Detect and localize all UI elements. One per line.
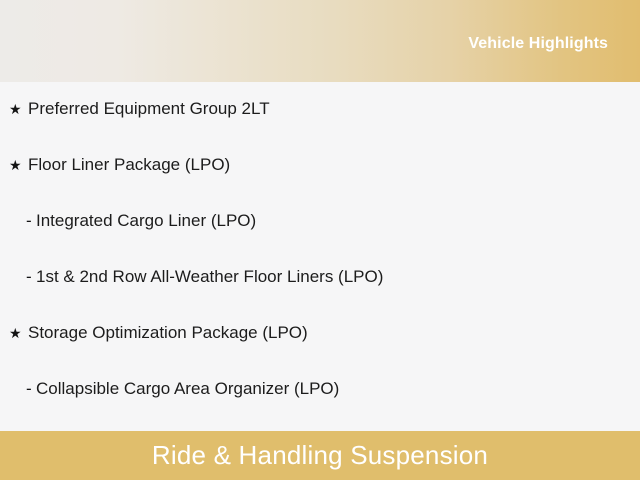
header-title: Vehicle Highlights (468, 35, 640, 53)
list-item-label: Storage Optimization Package (LPO) (28, 322, 308, 344)
dash-icon: - (26, 266, 36, 288)
list-item: ★ Storage Optimization Package (LPO) (0, 322, 640, 378)
list-item-label: Integrated Cargo Liner (LPO) (36, 210, 256, 232)
list-item: - 1st & 2nd Row All-Weather Floor Liners… (0, 266, 640, 322)
star-icon: ★ (9, 98, 28, 120)
list-item: ★ Preferred Equipment Group 2LT (0, 98, 640, 154)
slide-footer: Ride & Handling Suspension (0, 431, 640, 480)
list-item-label: Collapsible Cargo Area Organizer (LPO) (36, 378, 339, 400)
footer-title: Ride & Handling Suspension (152, 440, 488, 471)
slide-header: Vehicle Highlights (0, 0, 640, 82)
highlights-list: ★ Preferred Equipment Group 2LT ★ Floor … (0, 82, 640, 431)
dash-icon: - (26, 210, 36, 232)
list-item: - Integrated Cargo Liner (LPO) (0, 210, 640, 266)
list-item: - Collapsible Cargo Area Organizer (LPO) (0, 378, 640, 431)
star-icon: ★ (9, 154, 28, 176)
star-icon: ★ (9, 322, 28, 344)
list-item-label: Floor Liner Package (LPO) (28, 154, 230, 176)
vehicle-highlights-slide: Vehicle Highlights ★ Preferred Equipment… (0, 0, 640, 480)
list-item: ★ Floor Liner Package (LPO) (0, 154, 640, 210)
list-item-label: Preferred Equipment Group 2LT (28, 98, 270, 120)
list-item-label: 1st & 2nd Row All-Weather Floor Liners (… (36, 266, 383, 288)
dash-icon: - (26, 378, 36, 400)
